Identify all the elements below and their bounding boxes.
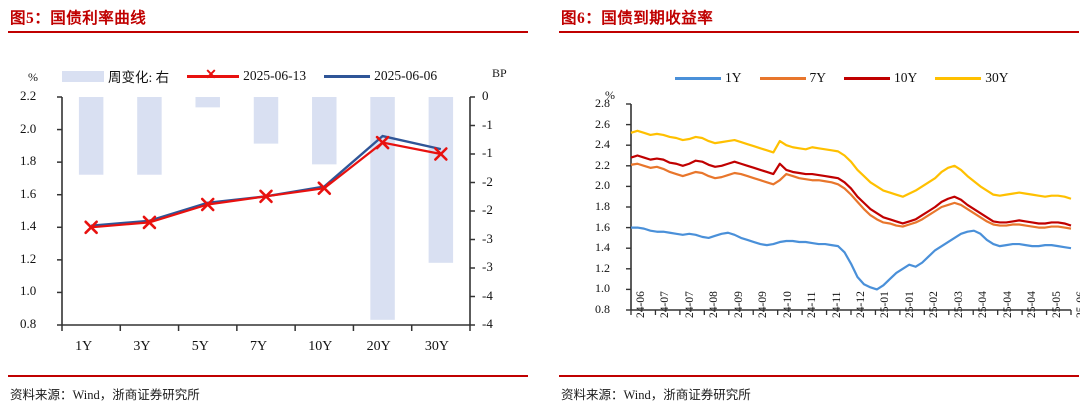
- x-tick-label: 25-03: [953, 291, 965, 318]
- tick-label: 2.8: [595, 96, 610, 111]
- tick-label: 1.8: [595, 199, 610, 214]
- x-tick-label: 25-04: [1026, 291, 1038, 318]
- figure-6-series-lines: [631, 131, 1071, 290]
- tick-label: -4: [482, 288, 493, 304]
- weekly-change-bars: [79, 97, 453, 320]
- figure-6-svg: [551, 0, 1080, 413]
- tick-label: -2: [482, 174, 493, 190]
- x-tick-label: 24-08: [708, 291, 720, 318]
- tick-label: -3: [482, 231, 493, 247]
- tick-label: 2.0: [595, 178, 610, 193]
- figures-page: 图5：国债利率曲线 周变化: 右 ✕ 2025-06-13 2025-06-06…: [0, 0, 1080, 413]
- tick-label: 1.4: [595, 240, 610, 255]
- x-tick-label: 24-06: [635, 291, 647, 318]
- tick-label: 20Y: [367, 339, 391, 355]
- weekly-change-bar: [370, 97, 394, 320]
- tick-label: 5Y: [192, 339, 209, 355]
- figure-5-footer-rule: [8, 375, 528, 377]
- x-tick-label: 24-09: [757, 291, 769, 318]
- tick-label: 2.4: [595, 137, 610, 152]
- tick-label: 3Y: [133, 339, 150, 355]
- x-tick-label: 25-05: [1051, 291, 1063, 318]
- tick-label: 1.4: [20, 218, 36, 234]
- x-tick-label: 25-04: [977, 291, 989, 318]
- tick-label: 7Y: [250, 339, 267, 355]
- tick-label: -1: [482, 117, 493, 133]
- series-line-10Y: [631, 156, 1071, 226]
- figure-5-plot: 0.81.01.21.41.61.82.02.2 0-1-1-2-2-3-3-4…: [0, 0, 529, 413]
- weekly-change-bar: [79, 97, 103, 175]
- tick-label: 1.6: [595, 220, 610, 235]
- x-tick-label: 24-09: [733, 291, 745, 318]
- x-tick-label: 25-06: [1075, 291, 1080, 318]
- x-tick-label: 25-01: [904, 291, 916, 318]
- tick-label: 2.6: [595, 117, 610, 132]
- tick-label: 0.8: [20, 316, 36, 332]
- tick-label: 1.8: [20, 153, 36, 169]
- tick-label: 1.2: [20, 251, 36, 267]
- weekly-change-bar: [137, 97, 161, 175]
- figure-6-plot: 0.81.01.21.41.61.82.02.22.42.62.8 24-062…: [551, 0, 1080, 413]
- x-tick-label: 24-10: [782, 291, 794, 318]
- x-tick-label: 24-07: [684, 291, 696, 318]
- tick-label: 2.2: [20, 88, 36, 104]
- tick-label: 1.0: [595, 281, 610, 296]
- weekly-change-bar: [429, 97, 453, 263]
- x-tick-label: 25-01: [879, 291, 891, 318]
- tick-label: 1.6: [20, 186, 36, 202]
- figure-5-source: 资料来源：Wind，浙商证券研究所: [10, 384, 200, 403]
- tick-label: -2: [482, 202, 493, 218]
- tick-label: -3: [482, 259, 493, 275]
- figure-6-source: 资料来源：Wind，浙商证券研究所: [561, 384, 751, 403]
- tick-label: 1.0: [20, 283, 36, 299]
- figure-panel-6: 图6：国债到期收益率 1Y 7Y 10Y 30Y %: [551, 0, 1080, 413]
- weekly-change-bar: [312, 97, 336, 164]
- x-tick-label: 25-04: [1002, 291, 1014, 318]
- figure-panel-5: 图5：国债利率曲线 周变化: 右 ✕ 2025-06-13 2025-06-06…: [0, 0, 529, 413]
- series-line-7Y: [631, 164, 1071, 229]
- tick-label: 1Y: [75, 339, 92, 355]
- tick-label: 0: [482, 88, 489, 104]
- x-tick-label: 24-07: [659, 291, 671, 318]
- x-tick-label: 25-02: [928, 291, 940, 318]
- figure-6-footer-rule: [559, 375, 1079, 377]
- tick-label: 0.8: [595, 302, 610, 317]
- tick-label: -1: [482, 145, 493, 161]
- tick-label: 10Y: [308, 339, 332, 355]
- weekly-change-bar: [254, 97, 278, 144]
- tick-label: 2.0: [20, 121, 36, 137]
- weekly-change-bar: [195, 97, 219, 107]
- x-tick-label: 24-11: [806, 292, 818, 318]
- tick-label: 30Y: [425, 339, 449, 355]
- x-tick-label: 24-12: [855, 291, 867, 318]
- tick-label: 2.2: [595, 158, 610, 173]
- tick-label: 1.2: [595, 261, 610, 276]
- series-line-1Y: [631, 228, 1071, 290]
- x-tick-label: 24-11: [831, 292, 843, 318]
- tick-label: -4: [482, 316, 493, 332]
